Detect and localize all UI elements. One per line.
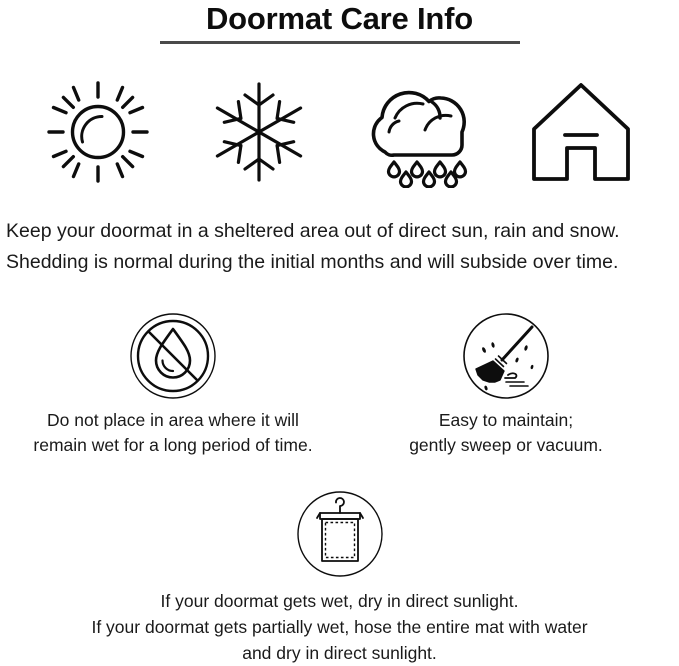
page-header: Doormat Care Info [0, 0, 679, 44]
page-title: Doormat Care Info [0, 0, 679, 36]
no-water-caption: Do not place in area where it will remai… [33, 408, 312, 458]
drying-line-1: If your doormat gets wet, dry in direct … [91, 588, 587, 614]
title-divider [160, 41, 520, 44]
intro-line-1: Keep your doormat in a sheltered area ou… [6, 216, 673, 247]
weather-icon-row [0, 72, 679, 192]
care-instruction-row: Do not place in area where it will remai… [0, 310, 679, 458]
no-water-line-1: Do not place in area where it will [33, 408, 312, 433]
intro-paragraph: Keep your doormat in a sheltered area ou… [0, 216, 679, 278]
sun-icon [33, 72, 163, 192]
drying-line-2: If your doormat gets partially wet, hose… [91, 614, 587, 640]
drying-caption: If your doormat gets wet, dry in direct … [91, 588, 587, 666]
drying-instruction-block: If your doormat gets wet, dry in direct … [0, 488, 679, 666]
care-item-sweep: Easy to maintain; gently sweep or vacuum… [341, 310, 671, 458]
care-item-no-water: Do not place in area where it will remai… [8, 310, 338, 458]
no-water-line-2: remain wet for a long period of time. [33, 433, 312, 458]
sweep-caption: Easy to maintain; gently sweep or vacuum… [409, 408, 603, 458]
rain-cloud-icon [355, 72, 485, 192]
broom-icon [460, 310, 552, 402]
house-icon [516, 72, 646, 192]
hang-to-dry-icon [294, 488, 386, 580]
intro-line-2: Shedding is normal during the initial mo… [6, 247, 673, 278]
no-water-icon [127, 310, 219, 402]
snowflake-icon [194, 72, 324, 192]
sweep-line-1: Easy to maintain; [409, 408, 603, 433]
doormat-care-info-sheet: Doormat Care Info [0, 0, 679, 655]
drying-line-3: and dry in direct sunlight. [91, 640, 587, 666]
sweep-line-2: gently sweep or vacuum. [409, 433, 603, 458]
